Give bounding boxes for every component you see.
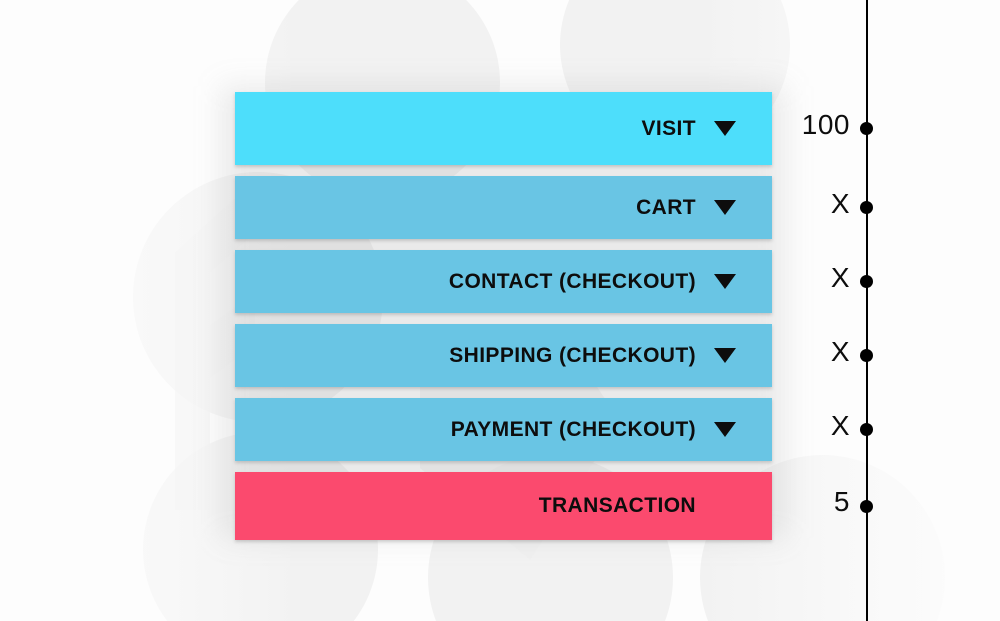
funnel-stage-label: SHIPPING (CHECKOUT)	[449, 344, 696, 368]
axis-tick-label: 5	[834, 486, 850, 518]
chevron-down-icon[interactable]	[696, 348, 754, 363]
funnel-stage-label: CONTACT (CHECKOUT)	[449, 270, 696, 294]
funnel-stage-shipping-checkout[interactable]: SHIPPING (CHECKOUT)	[235, 324, 772, 387]
axis-tick-label: X	[831, 410, 850, 442]
axis-tick-label: X	[831, 336, 850, 368]
chevron-down-icon[interactable]	[696, 121, 754, 136]
funnel-stage-transaction[interactable]: TRANSACTION	[235, 472, 772, 540]
chevron-down-icon[interactable]	[696, 422, 754, 437]
chevron-down-icon[interactable]	[696, 274, 754, 289]
axis-tick-dot	[860, 349, 873, 362]
axis-tick-label: X	[831, 262, 850, 294]
axis-tick-dot	[860, 275, 873, 288]
funnel-stage-label: VISIT	[641, 117, 696, 141]
funnel-stack: VISITCARTCONTACT (CHECKOUT)SHIPPING (CHE…	[235, 92, 772, 540]
axis-tick-dot	[860, 201, 873, 214]
funnel-stage-cart[interactable]: CART	[235, 176, 772, 239]
funnel-stage-label: PAYMENT (CHECKOUT)	[451, 418, 696, 442]
chevron-down-icon[interactable]	[696, 200, 754, 215]
axis-tick-dot	[860, 423, 873, 436]
axis-tick-label: 100	[802, 109, 850, 141]
axis-tick-dot	[860, 500, 873, 513]
axis-tick-label: X	[831, 188, 850, 220]
axis-tick-dot	[860, 122, 873, 135]
funnel-chart-canvas: VISITCARTCONTACT (CHECKOUT)SHIPPING (CHE…	[0, 0, 1000, 621]
funnel-stage-contact-checkout[interactable]: CONTACT (CHECKOUT)	[235, 250, 772, 313]
funnel-stage-label: CART	[636, 196, 696, 220]
funnel-stage-visit[interactable]: VISIT	[235, 92, 772, 165]
value-axis-line	[866, 0, 868, 621]
funnel-stage-label: TRANSACTION	[539, 494, 696, 518]
funnel-stage-payment-checkout[interactable]: PAYMENT (CHECKOUT)	[235, 398, 772, 461]
